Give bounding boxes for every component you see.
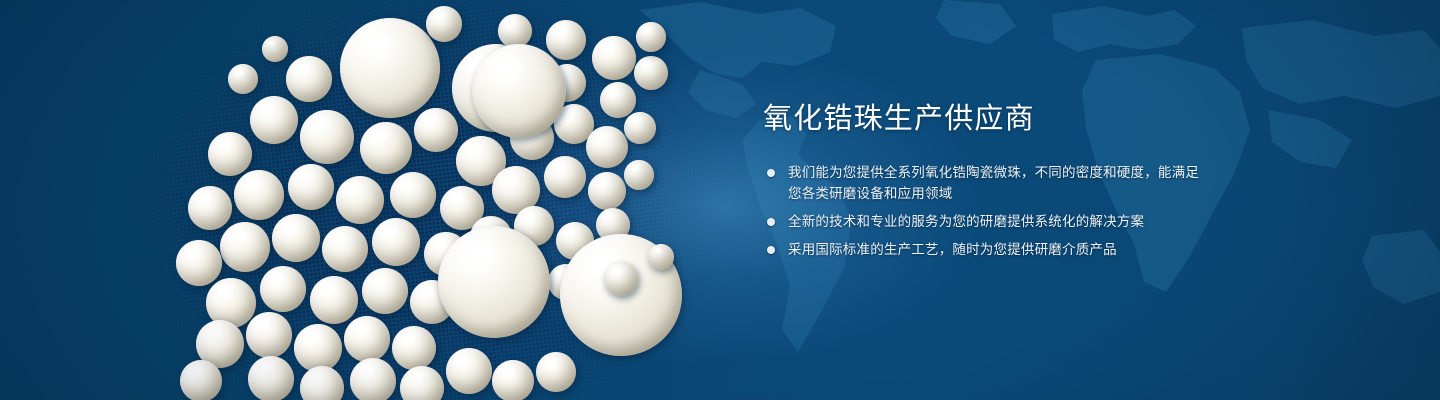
- bullet-dot-icon: [767, 169, 775, 177]
- bullet-dot-icon: [767, 246, 775, 254]
- list-item: 我们能为您提供全系列氧化锆陶瓷微珠，不同的密度和硬度，能满足您各类研磨设备和应用…: [763, 162, 1203, 204]
- halftone-texture: [66, 0, 775, 400]
- bullet-dot-icon: [767, 218, 775, 226]
- list-item: 采用国际标准的生产工艺，随时为您提供研磨介质产品: [763, 239, 1203, 260]
- list-item-label: 采用国际标准的生产工艺，随时为您提供研磨介质产品: [788, 239, 1203, 260]
- page-title: 氧化锆珠生产供应商: [763, 104, 1203, 136]
- banner-copy: 氧化锆珠生产供应商 我们能为您提供全系列氧化锆陶瓷微珠，不同的密度和硬度，能满足…: [763, 104, 1203, 260]
- feature-list: 我们能为您提供全系列氧化锆陶瓷微珠，不同的密度和硬度，能满足您各类研磨设备和应用…: [763, 162, 1203, 260]
- list-item-label: 全新的技术和专业的服务为您的研磨提供系统化的解决方案: [788, 211, 1203, 232]
- list-item: 全新的技术和专业的服务为您的研磨提供系统化的解决方案: [763, 211, 1203, 232]
- hero-banner: 氧化锆珠生产供应商 我们能为您提供全系列氧化锆陶瓷微珠，不同的密度和硬度，能满足…: [0, 0, 1440, 400]
- list-item-label: 我们能为您提供全系列氧化锆陶瓷微珠，不同的密度和硬度，能满足您各类研磨设备和应用…: [788, 162, 1203, 204]
